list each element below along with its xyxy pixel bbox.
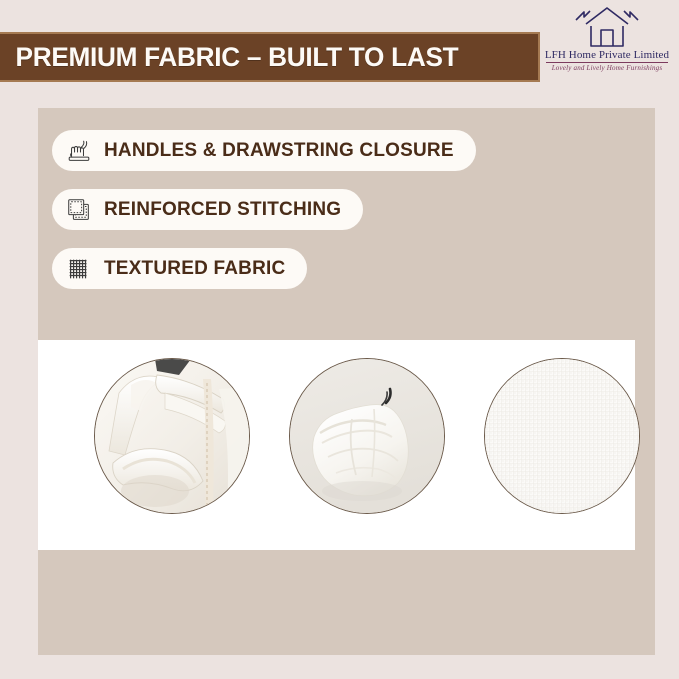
- woven-mesh-icon: [64, 254, 94, 284]
- house-outline-icon: [570, 4, 644, 48]
- page-title: PREMIUM FABRIC – BUILT TO LAST: [0, 42, 458, 73]
- header-banner: PREMIUM FABRIC – BUILT TO LAST: [0, 32, 540, 82]
- feature-list: HANDLES & DRAWSTRING CLOSURE REINFORCED …: [52, 130, 476, 307]
- feature-pill-fabric[interactable]: TEXTURED FABRIC: [52, 248, 307, 289]
- brand-logo: LFH Home Private Limited Lovely and Live…: [543, 4, 671, 72]
- product-photo-strip: [38, 340, 635, 550]
- logo-divider: [546, 62, 668, 63]
- product-photo-handles: [94, 358, 250, 514]
- feature-pill-handles[interactable]: HANDLES & DRAWSTRING CLOSURE: [52, 130, 476, 171]
- product-photo-texture: [484, 358, 640, 514]
- product-photo-drawstring: [289, 358, 445, 514]
- feature-label: HANDLES & DRAWSTRING CLOSURE: [104, 140, 454, 162]
- stitched-squares-icon: [64, 195, 94, 225]
- logo-tagline: Lovely and Lively Home Furnishings: [552, 64, 663, 72]
- feature-pill-stitching[interactable]: REINFORCED STITCHING: [52, 189, 363, 230]
- logo-company-name: LFH Home Private Limited: [545, 49, 669, 61]
- hand-grip-handle-icon: [64, 136, 94, 166]
- feature-label: REINFORCED STITCHING: [104, 199, 341, 221]
- feature-label: TEXTURED FABRIC: [104, 258, 285, 280]
